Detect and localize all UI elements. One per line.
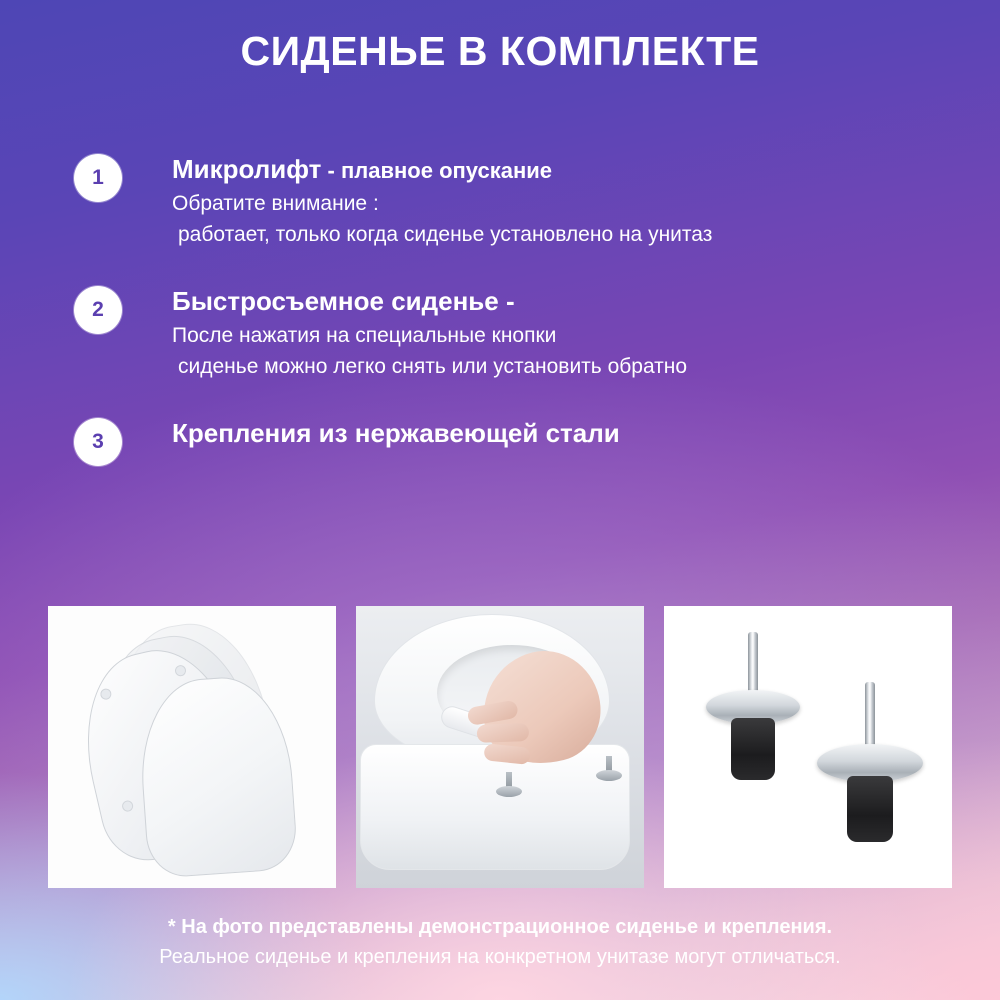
list-item: 1 Микролифт - плавное опускание Обратите… bbox=[74, 152, 974, 252]
fixing-right-icon bbox=[810, 682, 930, 872]
fixing-bolt-icon bbox=[496, 772, 522, 802]
photo-hand-installation bbox=[356, 606, 644, 888]
footnote: * На фото представлены демонстрационное … bbox=[0, 912, 1000, 972]
list-item-number-badge: 1 bbox=[74, 154, 122, 202]
list-item-headline-rest: - плавное опускание bbox=[321, 158, 552, 183]
page-title: СИДЕНЬЕ В КОМПЛЕКТЕ bbox=[0, 28, 1000, 75]
fixing-rod-icon bbox=[748, 632, 758, 694]
list-item-headline-strong: Микролифт bbox=[172, 154, 321, 184]
bolt-cap-icon bbox=[496, 786, 522, 797]
footnote-line-2: Реальное сиденье и крепления на конкретн… bbox=[0, 942, 1000, 972]
list-item: 3 Крепления из нержавеющей стали bbox=[74, 416, 974, 516]
toilet-base-icon bbox=[360, 744, 630, 870]
list-item-headline: Быстросъемное сиденье - bbox=[172, 284, 974, 320]
list-item-headline: Крепления из нержавеющей стали bbox=[172, 416, 974, 450]
photo-chrome-fixings bbox=[664, 606, 952, 888]
list-item-number-badge: 3 bbox=[74, 418, 122, 466]
fixing-bolt-icon bbox=[596, 756, 622, 786]
footnote-line-1: * На фото представлены демонстрационное … bbox=[0, 912, 1000, 942]
fixing-rod-icon bbox=[865, 682, 875, 748]
fixing-rubber-icon bbox=[731, 718, 775, 780]
list-item-number-badge: 2 bbox=[74, 286, 122, 334]
bolt-cap-icon bbox=[596, 770, 622, 781]
seat-bumper-icon bbox=[99, 687, 112, 700]
fixing-rubber-icon bbox=[847, 776, 893, 842]
fixing-left-icon bbox=[698, 632, 808, 812]
photo-strip bbox=[48, 606, 952, 888]
promo-banner: СИДЕНЬЕ В КОМПЛЕКТЕ 1 Микролифт - плавно… bbox=[0, 0, 1000, 1000]
list-item: 2 Быстросъемное сиденье - После нажатия … bbox=[74, 284, 974, 384]
seat-bumper-icon bbox=[174, 664, 187, 677]
list-item-body: Крепления из нержавеющей стали bbox=[172, 416, 974, 450]
list-item-line: После нажатия на специальные кнопки bbox=[172, 320, 974, 351]
finger-icon bbox=[477, 723, 530, 743]
list-item-body: Микролифт - плавное опускание Обратите в… bbox=[172, 152, 974, 250]
list-item-headline-strong: Крепления из нержавеющей стали bbox=[172, 418, 620, 448]
list-item-headline: Микролифт - плавное опускание bbox=[172, 152, 974, 188]
list-item-line: работает, только когда сиденье установле… bbox=[172, 219, 974, 250]
list-item-line: сиденье можно легко снять или установить… bbox=[172, 351, 974, 382]
list-item-line: Обратите внимание : bbox=[172, 188, 974, 219]
list-item-headline-strong: Быстросъемное сиденье - bbox=[172, 286, 515, 316]
seat-bumper-icon bbox=[121, 799, 134, 812]
photo-seat-stack bbox=[48, 606, 336, 888]
list-item-body: Быстросъемное сиденье - После нажатия на… bbox=[172, 284, 974, 382]
feature-list: 1 Микролифт - плавное опускание Обратите… bbox=[74, 152, 974, 548]
